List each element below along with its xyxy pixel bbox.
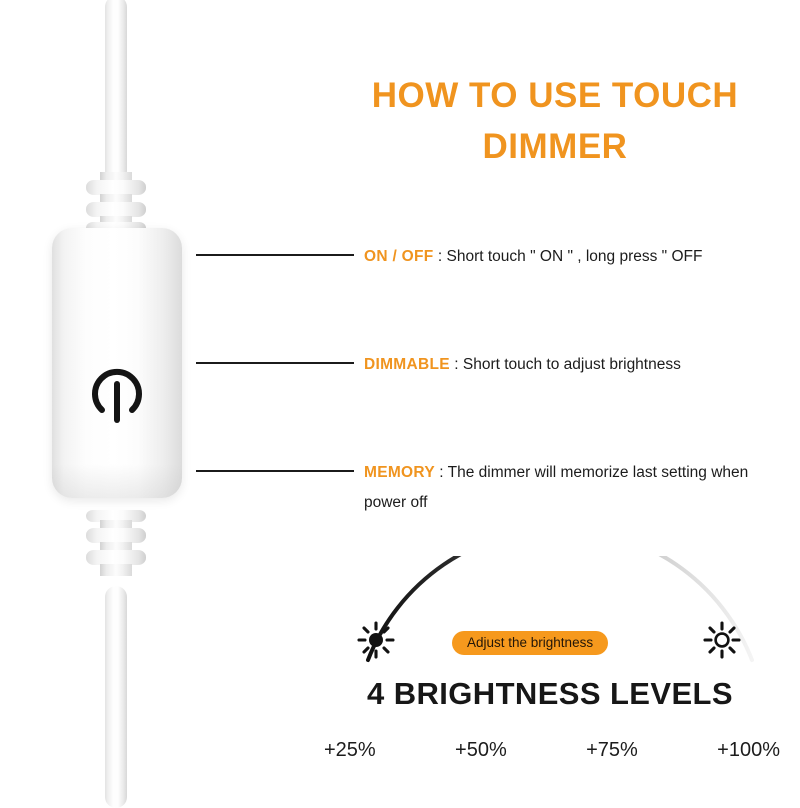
page-title: HOW TO USE TOUCH DIMMER bbox=[330, 70, 780, 172]
feature-onoff-separator: : bbox=[438, 248, 442, 265]
brightness-levels-heading: 4 BRIGHTNESS LEVELS bbox=[320, 676, 780, 712]
feature-onoff-key: ON / OFF bbox=[364, 248, 434, 265]
brightness-level-2: +50% bbox=[455, 739, 507, 762]
infographic-page: HOW TO USE TOUCH DIMMER ON / OFF : Short… bbox=[0, 0, 800, 800]
feature-memory: MEMORY : The dimmer will memorize last s… bbox=[364, 458, 764, 518]
sun-filled-icon bbox=[356, 620, 396, 660]
cable-lower bbox=[105, 586, 127, 808]
feature-memory-key: MEMORY bbox=[364, 464, 435, 481]
feature-onoff: ON / OFF : Short touch " ON " , long pre… bbox=[364, 242, 764, 272]
brightness-level-1: +25% bbox=[324, 739, 376, 762]
leader-line-memory bbox=[196, 470, 354, 472]
feature-dimmable: DIMMABLE : Short touch to adjust brightn… bbox=[364, 350, 764, 380]
brightness-level-4: +100% bbox=[717, 739, 780, 762]
dimmer-device-body[interactable] bbox=[52, 228, 182, 498]
feature-memory-separator: : bbox=[439, 464, 443, 481]
feature-onoff-text: Short touch " ON " , long press " OFF bbox=[447, 248, 703, 265]
feature-dimmable-key: DIMMABLE bbox=[364, 356, 450, 373]
product-illustration bbox=[0, 0, 270, 800]
feature-dimmable-text: Short touch to adjust brightness bbox=[463, 356, 681, 373]
leader-line-onoff bbox=[196, 254, 354, 256]
adjust-brightness-badge: Adjust the brightness bbox=[452, 631, 608, 655]
sun-outline-icon bbox=[702, 620, 742, 660]
strain-relief-lower bbox=[86, 510, 146, 572]
feature-dimmable-separator: : bbox=[454, 356, 458, 373]
brightness-level-3: +75% bbox=[586, 739, 638, 762]
leader-line-dimmable bbox=[196, 362, 354, 364]
strain-relief-upper bbox=[86, 172, 146, 234]
power-icon[interactable] bbox=[86, 362, 148, 428]
brightness-levels-row: +25% +50% +75% +100% bbox=[324, 739, 780, 762]
cable-upper bbox=[105, 0, 127, 182]
